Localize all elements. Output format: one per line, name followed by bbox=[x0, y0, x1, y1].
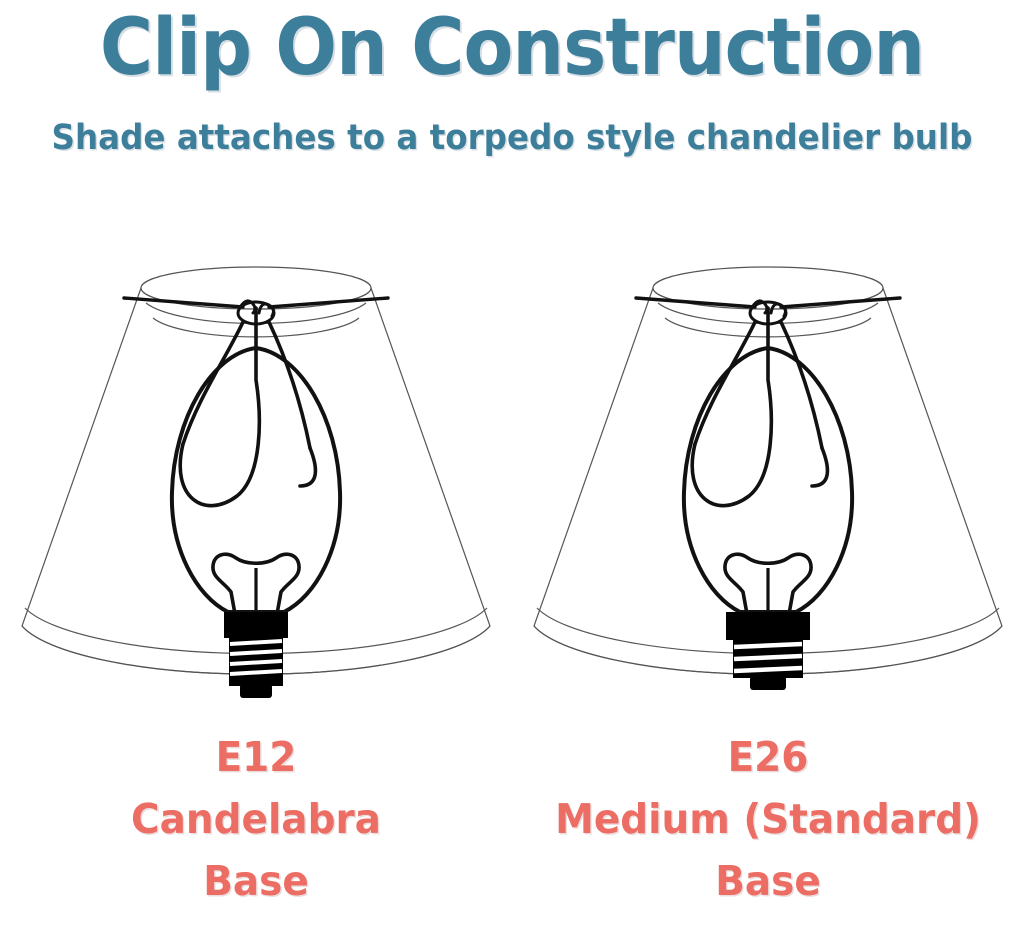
caption-row: E12 Candelabra Base E26 Medium (Standard… bbox=[0, 726, 1024, 933]
clip-arm-right-tip bbox=[300, 448, 315, 486]
header: Clip On Construction Shade attaches to a… bbox=[0, 0, 1024, 160]
clip-arm-right bbox=[269, 322, 310, 448]
bulb-base-e12 bbox=[224, 612, 288, 698]
figure-e26 bbox=[512, 248, 1024, 718]
caption-e26: E26 Medium (Standard) Base bbox=[525, 726, 1011, 933]
caption-e12: E12 Candelabra Base bbox=[13, 726, 499, 933]
lamp-shade-e26-diagram bbox=[512, 248, 1024, 718]
clip-on-construction-infographic: Clip On Construction Shade attaches to a… bbox=[0, 0, 1024, 933]
illustration-row bbox=[0, 248, 1024, 718]
caption-e26-name: Medium (Standard) bbox=[525, 788, 1011, 850]
caption-e12-suffix: Base bbox=[13, 850, 499, 912]
page-subtitle: Shade attaches to a torpedo style chande… bbox=[36, 116, 988, 160]
clip-arm-right bbox=[781, 322, 822, 448]
page-title: Clip On Construction bbox=[36, 0, 988, 96]
caption-e12-code: E12 bbox=[13, 726, 499, 788]
clip-coil-right bbox=[771, 304, 785, 316]
caption-e26-suffix: Base bbox=[525, 850, 1011, 912]
figure-e12 bbox=[0, 248, 512, 718]
bulb-base-e26 bbox=[726, 612, 810, 690]
base-foot-contact bbox=[240, 684, 272, 698]
clip-wire-group bbox=[124, 298, 388, 506]
clip-arm-left bbox=[695, 322, 755, 444]
clip-arm-left bbox=[183, 322, 243, 444]
lamp-shade-e12-diagram bbox=[0, 248, 512, 718]
base-collar bbox=[726, 612, 810, 640]
caption-e26-code: E26 bbox=[525, 726, 1011, 788]
clip-coil-right bbox=[259, 304, 273, 316]
clip-wire-group bbox=[636, 298, 900, 506]
base-foot-contact bbox=[750, 676, 786, 690]
base-collar bbox=[224, 612, 288, 638]
caption-e12-name: Candelabra bbox=[13, 788, 499, 850]
clip-arm-right-tip bbox=[812, 448, 827, 486]
